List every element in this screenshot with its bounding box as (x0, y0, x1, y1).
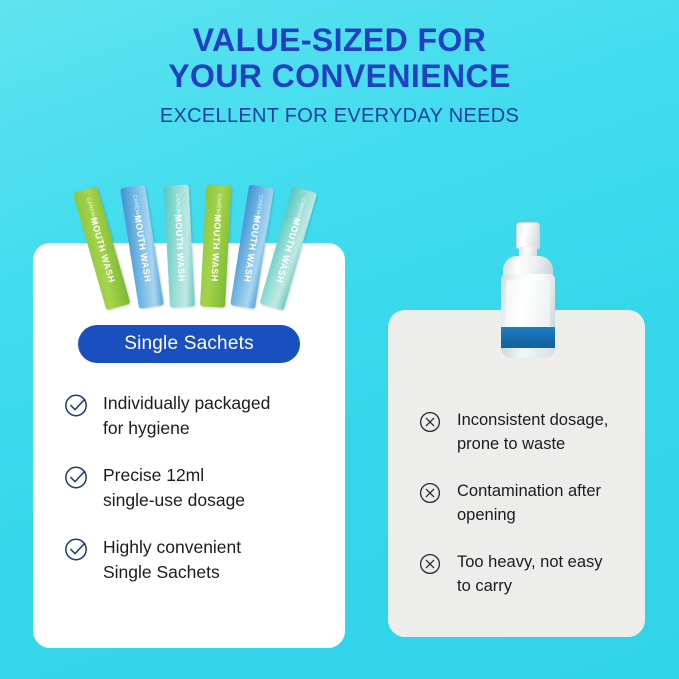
cross-circle-icon (418, 551, 444, 577)
sachet-sticks-image: CAREMAX MOUTH WASH CAREMAX MOUTH WASH CA… (104, 171, 304, 307)
list-item-line-2: to carry (457, 577, 512, 595)
list-item: Precise 12ml single-use dosage (64, 463, 324, 513)
list-item-text: Precise 12ml single-use dosage (103, 463, 245, 513)
list-item-line-2: prone to waste (457, 435, 565, 453)
list-item-line-1: Highly convenient (103, 537, 241, 557)
list-item-text: Highly convenient Single Sachets (103, 535, 241, 585)
check-circle-icon (64, 464, 90, 490)
bottle-label (506, 280, 550, 330)
list-item-line-2: opening (457, 506, 516, 524)
sachet-label: MOUTH WASH (173, 215, 187, 283)
subheadline: EXCELLENT FOR EVERYDAY NEEDS (0, 105, 679, 128)
drawbacks-list: Inconsistent dosage, prone to waste Cont… (418, 408, 630, 621)
headline-line-2: YOUR CONVENIENCE (0, 58, 679, 94)
bottle-body (501, 274, 555, 358)
check-circle-icon (64, 536, 90, 562)
benefits-list: Individually packaged for hygiene Precis… (64, 391, 324, 607)
cross-circle-icon (418, 480, 444, 506)
headline-line-1: VALUE-SIZED FOR (0, 22, 679, 58)
single-sachets-badge: Single Sachets (78, 325, 300, 363)
list-item-line-1: Contamination after (457, 482, 601, 500)
list-item-text: Individually packaged for hygiene (103, 391, 270, 441)
list-item-line-1: Inconsistent dosage, (457, 411, 608, 429)
list-item-line-1: Too heavy, not easy (457, 553, 603, 571)
list-item-text: Contamination after opening (457, 479, 601, 527)
list-item-text: Inconsistent dosage, prone to waste (457, 408, 608, 456)
list-item-line-2: single-use dosage (103, 490, 245, 510)
bottle-liquid (501, 327, 555, 349)
bottle-base (501, 348, 555, 358)
sachet-label: MOUTH WASH (132, 215, 152, 283)
sachet-stick: CAREMAX MOUTH WASH (200, 185, 231, 308)
sachet-stick: CAREMAX MOUTH WASH (164, 185, 195, 308)
badge-label: Single Sachets (124, 333, 254, 355)
list-item-line-1: Individually packaged (103, 393, 270, 413)
sachet-label: MOUTH WASH (241, 215, 261, 283)
list-item: Inconsistent dosage, prone to waste (418, 408, 630, 456)
list-item-line-2: for hygiene (103, 418, 190, 438)
list-item: Too heavy, not easy to carry (418, 550, 630, 598)
sachet-label: MOUTH WASH (209, 215, 223, 283)
headline-block: VALUE-SIZED FOR YOUR CONVENIENCE EXCELLE… (0, 22, 679, 128)
list-item-line-1: Precise 12ml (103, 465, 204, 485)
list-item-line-2: Single Sachets (103, 562, 220, 582)
mouthwash-bottle-image (495, 222, 561, 364)
list-item: Contamination after opening (418, 479, 630, 527)
sachet-label: MOUTH WASH (274, 217, 302, 285)
list-item: Highly convenient Single Sachets (64, 535, 324, 585)
check-circle-icon (64, 392, 90, 418)
list-item-text: Too heavy, not easy to carry (457, 550, 603, 598)
cross-circle-icon (418, 409, 444, 435)
list-item: Individually packaged for hygiene (64, 391, 324, 441)
promo-infographic: VALUE-SIZED FOR YOUR CONVENIENCE EXCELLE… (0, 0, 679, 679)
bottle-cap (516, 222, 540, 249)
